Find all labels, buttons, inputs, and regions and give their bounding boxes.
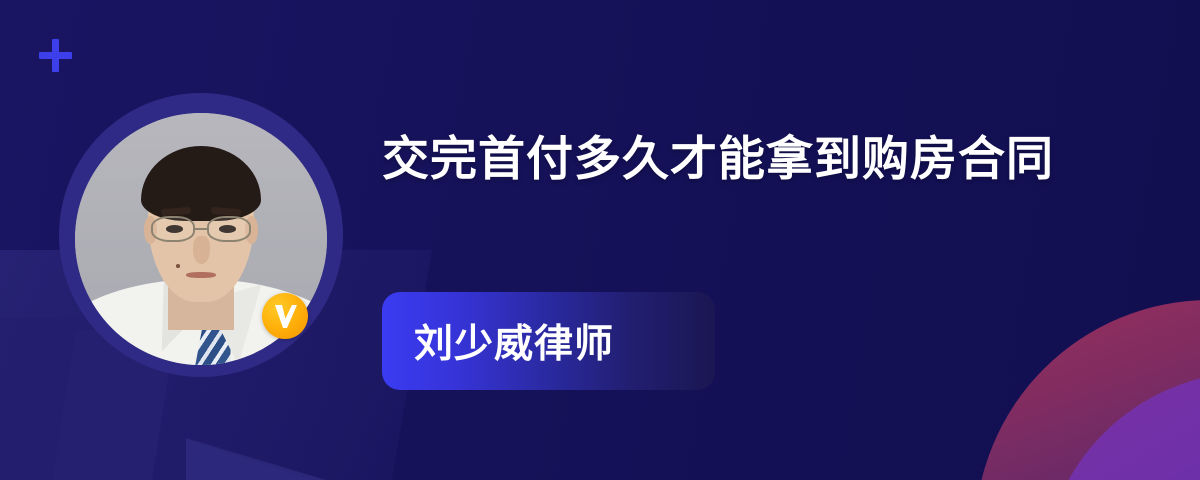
content-column: 交完首付多久才能拿到购房合同 刘少威律师 xyxy=(382,118,1122,200)
page-title: 交完首付多久才能拿到购房合同 xyxy=(382,118,1072,200)
plus-icon xyxy=(39,39,72,72)
lawyer-qa-banner: 交完首付多久才能拿到购房合同 刘少威律师 xyxy=(0,0,1200,480)
verified-v-icon xyxy=(262,293,308,339)
avatar xyxy=(59,93,343,377)
portrait-eyebrow-left xyxy=(160,206,191,215)
portrait-mouth xyxy=(186,272,216,279)
portrait-nose xyxy=(193,236,209,264)
lawyer-name-badge[interactable]: 刘少威律师 xyxy=(382,292,715,390)
glasses-bridge xyxy=(195,228,207,230)
glasses-lens-left xyxy=(151,216,195,241)
glasses-lens-right xyxy=(207,216,251,241)
plus-icon-bar-vertical xyxy=(52,39,59,72)
lawyer-name-label: 刘少威律师 xyxy=(414,313,614,369)
portrait-mole xyxy=(176,264,181,268)
